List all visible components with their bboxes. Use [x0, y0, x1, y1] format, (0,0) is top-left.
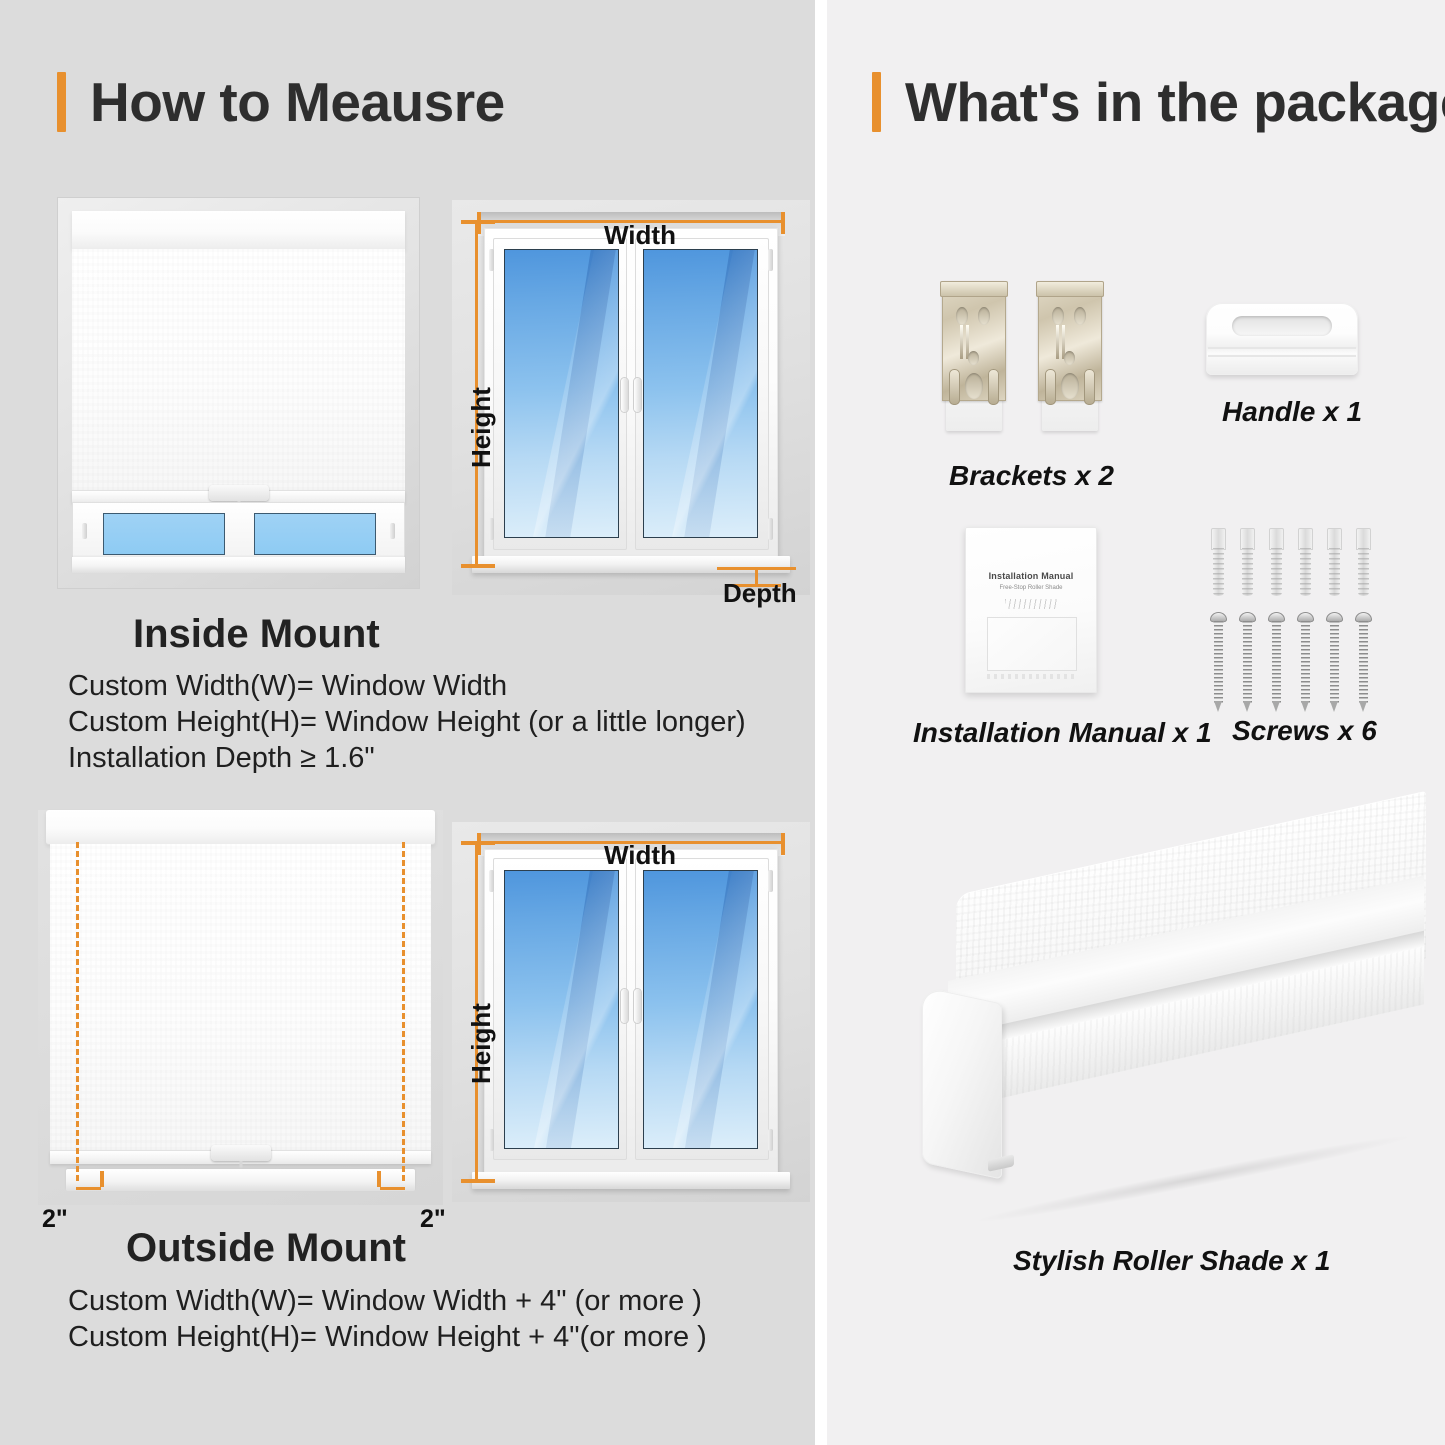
- bracket-tab-right: [1084, 369, 1095, 405]
- inside-mount-shade-diagram: [57, 197, 420, 589]
- bracket-center-slot: [1061, 373, 1079, 399]
- how-to-measure-title: How to Meausre: [90, 75, 505, 130]
- glass-reflection: [544, 249, 618, 537]
- inside-mount-measurement-window: Width Height Depth: [452, 200, 810, 595]
- roller-shade-icon: [918, 885, 1418, 1215]
- manual-cover-subtitle: Free-Stop Roller Shade: [965, 585, 1097, 591]
- wall-anchor-icon: [1297, 528, 1314, 596]
- height-marker-cap-bottom: [461, 1179, 495, 1183]
- anchor-collar: [1356, 528, 1371, 550]
- handle-icon: [1206, 303, 1358, 375]
- handle-ridge-a: [1208, 347, 1356, 349]
- anchor-collar: [1240, 528, 1255, 550]
- inside-mount-line-3: Installation Depth ≥ 1.6": [68, 742, 375, 775]
- bracket-tab-right: [988, 369, 999, 405]
- handle-grip-slot: [1232, 316, 1332, 336]
- screw-shaft: [1301, 621, 1310, 703]
- anchor-body: [1358, 548, 1369, 596]
- bracket-hole-b: [978, 307, 990, 325]
- accent-bar-icon: [872, 72, 881, 132]
- accent-bar-icon: [57, 72, 66, 132]
- roller-shade-end-cap: [922, 986, 1002, 1179]
- bracket-rib-a: [1056, 325, 1059, 359]
- bracket-top-flange: [1036, 281, 1104, 297]
- outside-mount-measurement-window: Width Height: [452, 822, 810, 1202]
- overhang-label-left: 2": [42, 1205, 68, 1234]
- shade-headrail: [72, 211, 406, 250]
- wall-anchor-icon: [1210, 528, 1227, 596]
- shade-headrail: [46, 810, 435, 845]
- anchor-collar: [1327, 528, 1342, 550]
- window-handle-right-icon: [634, 378, 641, 412]
- inside-mount-line-1: Custom Width(W)= Window Width: [68, 670, 507, 703]
- width-marker-cap-right: [781, 212, 785, 234]
- window-sill: [472, 556, 791, 574]
- screw-shaft: [1214, 621, 1223, 703]
- screw-shaft: [1330, 621, 1339, 703]
- glass-reflection: [544, 870, 616, 1149]
- screw-tip: [1359, 701, 1367, 712]
- window-recess-inner: [72, 211, 406, 574]
- screw-tip: [1214, 701, 1222, 712]
- screw-icon: [1210, 612, 1227, 712]
- overhang-guide-right: [402, 842, 405, 1182]
- screw-tip: [1330, 701, 1338, 712]
- window-glass-left: [103, 513, 225, 555]
- window-pane-right: [643, 870, 758, 1149]
- screw-tip: [1301, 701, 1309, 712]
- screw-shaft: [1243, 621, 1252, 703]
- bracket-tab-left: [1045, 369, 1056, 405]
- window-sill: [66, 1169, 414, 1191]
- manual-cover-title: Installation Manual: [965, 571, 1097, 581]
- window-glass-right: [254, 513, 376, 555]
- anchor-body: [1242, 548, 1253, 596]
- window-hinge-br-icon: [768, 518, 773, 540]
- outside-mount-shade-diagram: [38, 810, 443, 1205]
- height-marker-cap-bottom: [461, 564, 495, 568]
- overhang-label-right: 2": [420, 1205, 446, 1234]
- window-hinge-tl-icon: [489, 249, 494, 271]
- anchor-body: [1213, 548, 1224, 596]
- height-marker-cap-top: [461, 220, 495, 224]
- screw-group: [1210, 612, 1380, 714]
- bracket-icon: [940, 281, 1008, 431]
- bracket-icon: [1036, 281, 1104, 431]
- handle-label: Handle x 1: [1222, 396, 1362, 428]
- height-label: Height: [466, 387, 497, 468]
- window-sill: [472, 1172, 791, 1189]
- handle-body: [1206, 303, 1358, 375]
- bracket-hole-c: [968, 351, 979, 365]
- brackets-label: Brackets x 2: [949, 460, 1114, 492]
- inside-mount-line-2: Custom Height(H)= Window Height (or a li…: [68, 706, 746, 739]
- window-handle-left-icon: [621, 378, 628, 412]
- window-hinge-bl-icon: [489, 1129, 494, 1151]
- manual-cover-footer: [987, 674, 1075, 679]
- overhang-marker-right: [380, 1187, 404, 1190]
- window-sill: [72, 557, 406, 573]
- screw-icon: [1326, 612, 1343, 712]
- window-hinge-left-icon: [82, 523, 87, 539]
- width-label: Width: [604, 220, 676, 251]
- shade-pull-tab: [209, 485, 269, 501]
- window-pane-left: [504, 249, 619, 537]
- screws-label: Screws x 6: [1232, 715, 1377, 747]
- screw-shaft: [1272, 621, 1281, 703]
- anchor-collar: [1298, 528, 1313, 550]
- how-to-measure-heading: How to Meausre: [57, 72, 505, 132]
- outside-mount-line-1: Custom Width(W)= Window Width + 4" (or m…: [68, 1285, 702, 1318]
- anchor-collar: [1211, 528, 1226, 550]
- bracket-hole-b: [1074, 307, 1086, 325]
- window-hinge-tr-icon: [768, 249, 773, 271]
- anchor-body: [1300, 548, 1311, 596]
- window-pane-left: [504, 870, 619, 1149]
- inside-mount-title: Inside Mount: [133, 612, 380, 657]
- overhang-cap-right: [377, 1171, 381, 1187]
- window-pane-right: [643, 249, 758, 537]
- outside-mount-line-2: Custom Height(H)= Window Height + 4"(or …: [68, 1321, 707, 1354]
- outside-mount-title: Outside Mount: [126, 1226, 406, 1271]
- screw-icon: [1297, 612, 1314, 712]
- bracket-tab-left: [949, 369, 960, 405]
- window-hinge-bl-icon: [489, 518, 494, 540]
- height-marker-cap-top: [461, 841, 495, 845]
- overhang-cap-left: [100, 1171, 104, 1187]
- anchor-collar: [1269, 528, 1284, 550]
- window-handle-right-icon: [634, 989, 641, 1023]
- window-hinge-right-icon: [390, 523, 395, 539]
- package-heading: What's in the package: [872, 72, 1445, 132]
- depth-label: Depth: [723, 578, 797, 609]
- window-hinge-br-icon: [768, 1129, 773, 1151]
- installation-manual-label: Installation Manual x 1: [913, 717, 1212, 749]
- window-hinge-tr-icon: [768, 870, 773, 892]
- anchor-body: [1329, 548, 1340, 596]
- shade-bottom-bar: [50, 1150, 431, 1164]
- bracket-top-flange: [940, 281, 1008, 297]
- screw-shaft: [1359, 621, 1368, 703]
- bracket-hole-c: [1064, 351, 1075, 365]
- shade-pull-tab: [211, 1145, 271, 1161]
- width-label: Width: [604, 840, 676, 871]
- wall-anchor-icon: [1326, 528, 1343, 596]
- screw-tip: [1272, 701, 1280, 712]
- handle-ridge-b: [1208, 355, 1356, 357]
- window-hinge-tl-icon: [489, 870, 494, 892]
- screw-icon: [1239, 612, 1256, 712]
- glass-reflection: [683, 249, 757, 537]
- wall-anchor-icon: [1268, 528, 1285, 596]
- shade-fabric: [50, 844, 431, 1150]
- bracket-rib-a: [960, 325, 963, 359]
- package-title: What's in the package: [905, 75, 1445, 130]
- wall-anchor-group: [1210, 528, 1380, 598]
- roller-shade-label: Stylish Roller Shade x 1: [1013, 1245, 1330, 1277]
- width-marker-cap-right: [781, 833, 785, 855]
- glass-reflection: [684, 870, 756, 1149]
- screw-tip: [1243, 701, 1251, 712]
- bracket-hole-a: [956, 307, 968, 325]
- height-label: Height: [466, 1003, 497, 1084]
- bracket-center-slot: [965, 373, 983, 399]
- screw-icon: [1268, 612, 1285, 712]
- overhang-guide-left: [76, 842, 79, 1182]
- bracket-hole-a: [1052, 307, 1064, 325]
- roller-shade-shadow: [978, 1129, 1408, 1229]
- manual-cover-scribble: [1005, 599, 1057, 609]
- wall-anchor-icon: [1355, 528, 1372, 596]
- window-handle-left-icon: [621, 989, 628, 1023]
- wall-anchor-icon: [1239, 528, 1256, 596]
- panel-divider: [815, 0, 827, 1445]
- anchor-body: [1271, 548, 1282, 596]
- manual-icon: Installation Manual Free-Stop Roller Sha…: [965, 527, 1097, 693]
- overhang-marker-left: [76, 1187, 100, 1190]
- shade-fabric: [72, 249, 406, 490]
- infographic-canvas: How to Meausre: [0, 0, 1445, 1445]
- screw-icon: [1355, 612, 1372, 712]
- manual-cover-illustration: [987, 617, 1077, 671]
